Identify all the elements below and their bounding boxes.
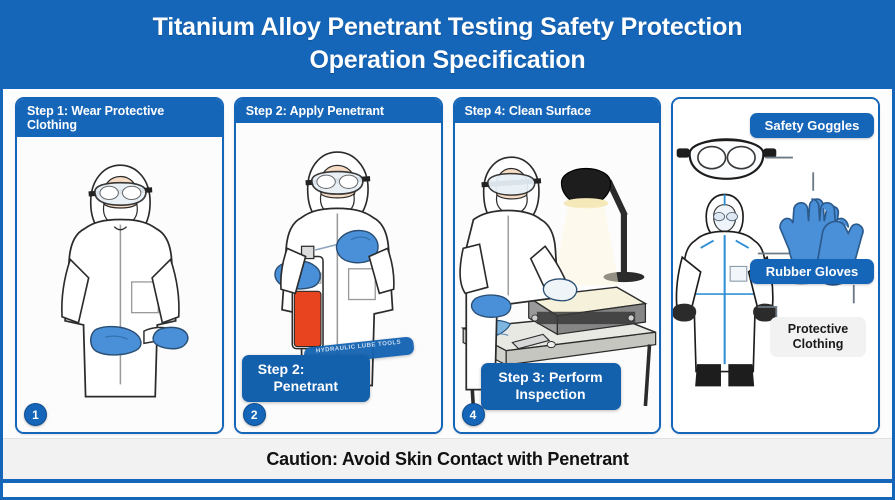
steps-row: Step 1: Wear Protective Clothing — [3, 89, 892, 438]
infographic-poster: Titanium Alloy Penetrant Testing Safety … — [0, 0, 895, 500]
step3-ribbon-line-2: Inspection — [515, 386, 585, 402]
clothing-label-line-1: Protective — [788, 322, 848, 336]
step2-ribbon-line-2: Penetrant — [246, 378, 366, 395]
step2-penetrant-ribbon: Step 2: Penetrant — [242, 355, 370, 402]
ppe-label-safety-goggles: Safety Goggles — [750, 113, 874, 138]
ppe-label-rubber-gloves: Rubber Gloves — [750, 259, 874, 284]
clothing-label-line-2: Clothing — [793, 337, 844, 351]
step-number-badge-2: 2 — [243, 403, 266, 426]
ppe-equipment-panel: Safety Goggles Rubber Gloves Protective … — [671, 97, 880, 434]
title-line-1: Titanium Alloy Penetrant Testing Safety … — [153, 13, 743, 41]
step-number-badge-1: 1 — [24, 403, 47, 426]
step-panel-1: Step 1: Wear Protective Clothing — [15, 97, 224, 434]
ppe-illustration: Safety Goggles Rubber Gloves Protective … — [673, 99, 878, 432]
step-panel-3: Step 4: Clean Surface — [453, 97, 662, 434]
step-panel-1-header: Step 1: Wear Protective Clothing — [17, 99, 222, 137]
worker-donning-gloves-icon — [17, 137, 222, 432]
bottom-spacer — [3, 483, 892, 497]
step3-ribbon-line-1: Step 3: Perform — [498, 369, 602, 385]
step2-ribbon-line-1: Step 2: — [246, 361, 366, 378]
step-panel-2: Step 2: Apply Penetrant — [234, 97, 443, 434]
poster-header: Titanium Alloy Penetrant Testing Safety … — [3, 3, 892, 89]
caution-bar: Caution: Avoid Skin Contact with Penetra… — [3, 438, 892, 479]
caution-text: Caution: Avoid Skin Contact with Penetra… — [3, 449, 892, 470]
step-number-badge-4: 4 — [462, 403, 485, 426]
step-panel-1-illustration — [17, 137, 222, 432]
ppe-label-protective-clothing: Protective Clothing — [770, 317, 866, 357]
step-panel-2-header: Step 2: Apply Penetrant — [236, 99, 441, 123]
step3-inspection-ribbon: Step 3: Perform Inspection — [481, 363, 621, 410]
title-line-2: Operation Specification — [309, 46, 585, 74]
step-panel-3-header: Step 4: Clean Surface — [455, 99, 660, 123]
page-title: Titanium Alloy Penetrant Testing Safety … — [43, 11, 852, 77]
